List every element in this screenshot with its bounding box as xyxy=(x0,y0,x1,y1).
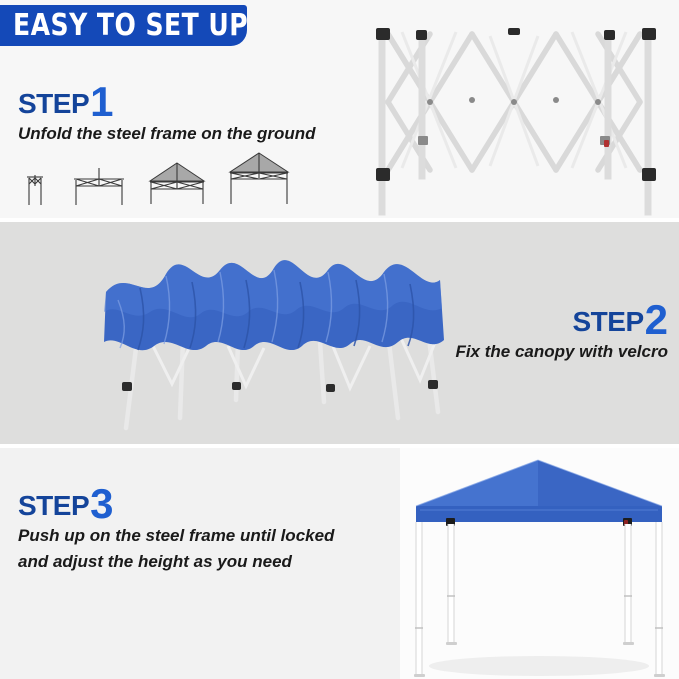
step-1-number: 1 xyxy=(90,85,113,119)
step-3-heading: STEP 3 xyxy=(18,484,334,520)
step-3-panel: STEP 3 Push up on the steel frame until … xyxy=(0,448,679,679)
step-2-label: STEP xyxy=(573,308,644,336)
step-1-heading: STEP 1 xyxy=(18,82,316,118)
step-1-panel: EASY TO SET UP STEP 1 Unfold the steel f… xyxy=(0,0,679,218)
pictogram-frame-folded xyxy=(18,164,52,206)
easy-to-set-up-banner: EASY TO SET UP xyxy=(0,5,247,46)
step-1-description: Unfold the steel frame on the ground xyxy=(18,122,316,146)
step-2-description: Fix the canopy with velcro xyxy=(455,340,668,364)
step-3-label: STEP xyxy=(18,492,89,520)
step-3-description-line-1: Push up on the steel frame until locked xyxy=(18,524,334,548)
infographic-page: EASY TO SET UP STEP 1 Unfold the steel f… xyxy=(0,0,679,679)
step-1-text-block: STEP 1 Unfold the steel frame on the gro… xyxy=(18,82,316,146)
step-2-number: 2 xyxy=(645,303,668,337)
step-3-number: 3 xyxy=(90,487,113,521)
step-2-heading: STEP 2 xyxy=(455,300,668,336)
step-2-panel: STEP 2 Fix the canopy with velcro xyxy=(0,222,679,444)
step-2-canopy-drape-image xyxy=(88,222,448,444)
banner-label: EASY TO SET UP xyxy=(0,11,248,41)
step-1-frame-image xyxy=(352,0,679,218)
step-2-text-block: STEP 2 Fix the canopy with velcro xyxy=(455,300,668,364)
step-3-assembled-canopy-image xyxy=(400,448,679,679)
step-3-text-block: STEP 3 Push up on the steel frame until … xyxy=(18,484,334,574)
pictogram-frame-with-canopy-raised xyxy=(226,148,292,206)
step-1-label: STEP xyxy=(18,90,89,118)
setup-progression-pictograms xyxy=(18,148,292,206)
pictogram-frame-with-canopy-low xyxy=(146,156,208,206)
pictogram-frame-partly-expanded xyxy=(70,162,128,206)
step-3-description-line-2: and adjust the height as you need xyxy=(18,550,334,574)
